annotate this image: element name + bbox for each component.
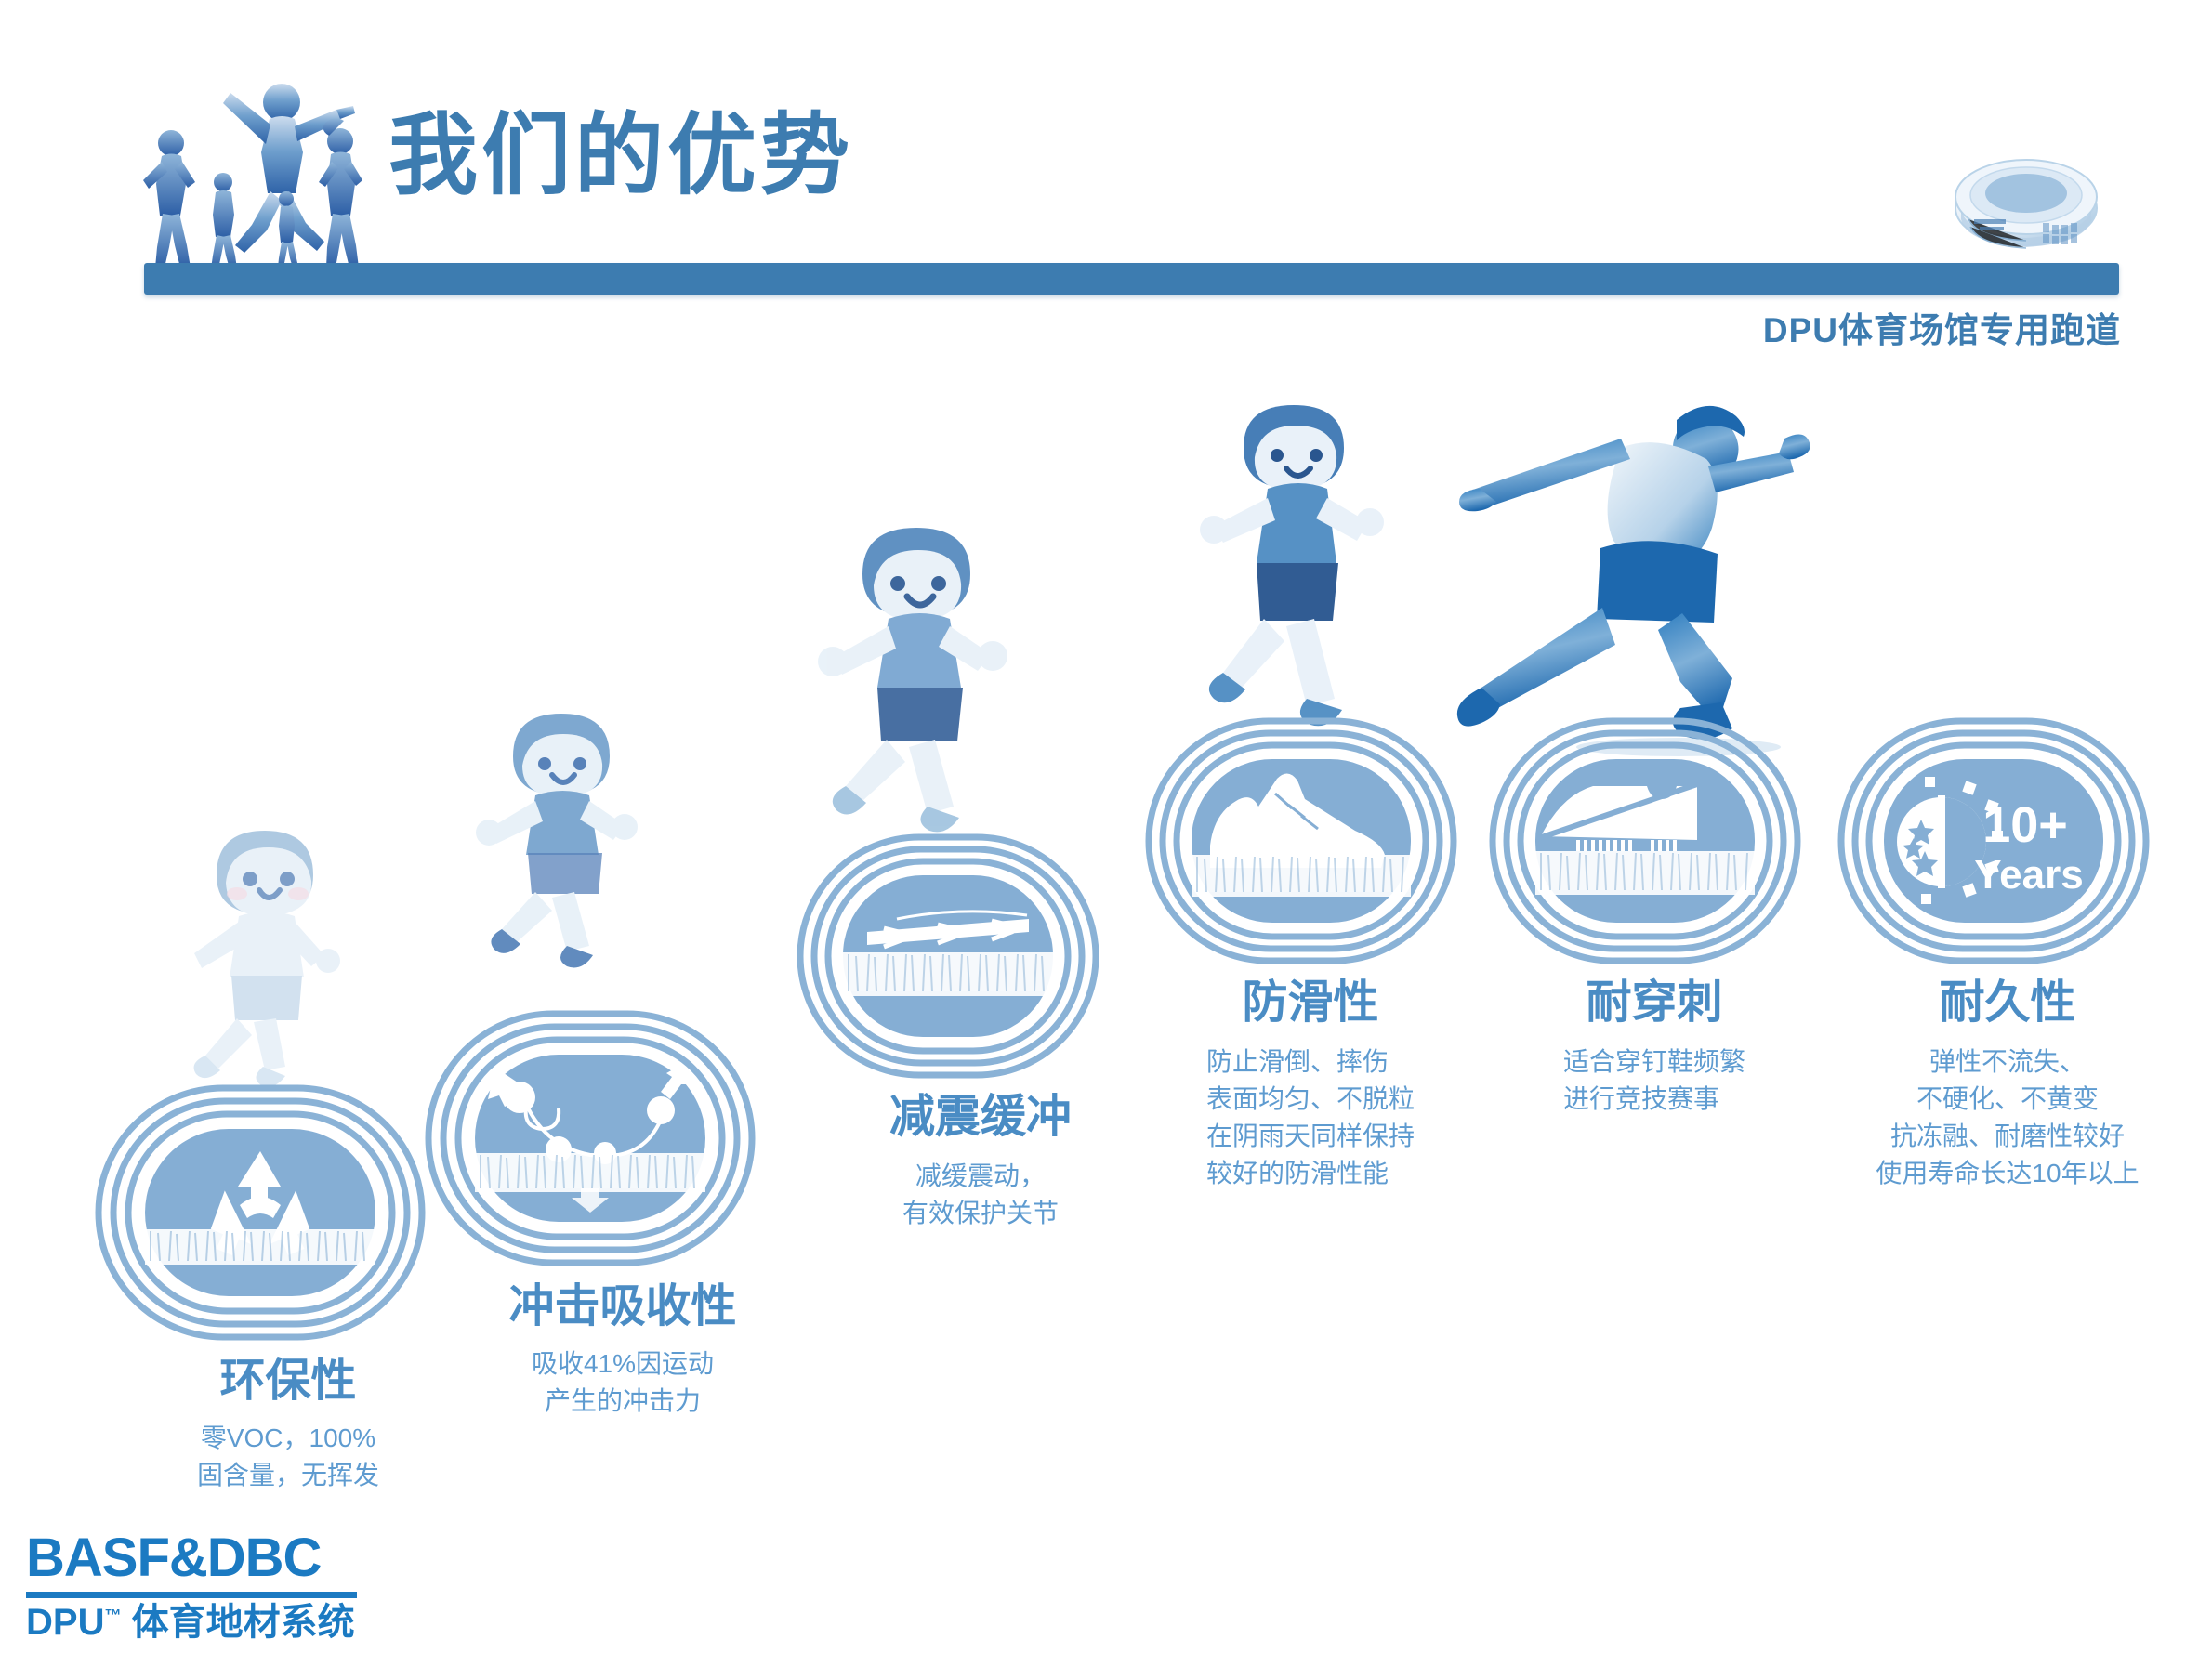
ten-plus-years-icon: 10+ Years (1836, 715, 2179, 966)
brand-name: BASF&DBC (26, 1531, 398, 1585)
logo-divider (26, 1592, 357, 1598)
kid-toddler-runner (172, 818, 395, 1124)
feature-shock-cushion[interactable]: 减震缓冲 减缓震动， 有效保护关节 (795, 832, 1166, 1232)
kid-small-runner (455, 706, 688, 1022)
feature-durability[interactable]: 10+ Years 耐久性 弹性不流失、 不硬化、不黄变 抗冻融、耐磨性较好 使… (1836, 715, 2179, 1191)
spring-plate-icon (795, 832, 1166, 1081)
feature-desc-line: 弹性不流失、 (1836, 1043, 2179, 1081)
feature-desc-line: 进行竞技赛事 (1563, 1081, 1745, 1118)
header-divider-bar (144, 263, 2119, 295)
product-suffix: 体育地材系统 (132, 1602, 355, 1643)
page-title: 我们的优势 (388, 112, 853, 201)
feature-anti-slip[interactable]: 防滑性 防止滑倒、摔伤 表面均匀、不脱粒 在阴雨天同样保持 较好的防滑性能 (1143, 715, 1478, 1191)
adult-sprinter (1439, 388, 1848, 760)
feature-desc-line: 抗冻融、耐磨性较好 (1836, 1118, 2179, 1155)
feature-desc-line: 表面均匀、不脱粒 (1206, 1081, 1415, 1118)
feature-title: 防滑性 (1143, 979, 1478, 1027)
feature-title: 减震缓冲 (795, 1094, 1166, 1141)
stadium-3d-icon (1942, 141, 2110, 253)
feature-title: 耐久性 (1836, 979, 2179, 1027)
feature-desc-line: 在阴雨天同样保持 (1206, 1118, 1415, 1155)
feature-desc-line: 较好的防滑性能 (1206, 1155, 1415, 1192)
trademark-symbol: ™ (104, 1607, 121, 1625)
feature-desc-line: 产生的冲击力 (423, 1383, 823, 1420)
feature-puncture-resistance[interactable]: 耐穿刺 适合穿钉鞋频繁 进行竞技赛事 (1487, 715, 1822, 1118)
feature-title: 冲击吸收性 (423, 1283, 823, 1331)
feature-desc-line: 零VOC，100% (93, 1420, 483, 1457)
feature-desc-line: 防止滑倒、摔伤 (1206, 1043, 1415, 1081)
feature-impact-absorption[interactable]: 冲击吸收性 吸收41%因运动 产生的冲击力 (423, 1008, 823, 1420)
spike-shoe-icon (1487, 715, 1822, 966)
badge-years-primary: 10+ (1982, 797, 2068, 853)
feature-desc-line: 适合穿钉鞋频繁 (1563, 1043, 1745, 1081)
product-name: DPU™ 体育地材系统 (26, 1604, 398, 1641)
feature-desc-line: 固含量，无挥发 (93, 1457, 483, 1494)
slide-root: 我们的优势 (0, 0, 2212, 1666)
header-subtitle: DPU体育场馆专用跑道 (1763, 302, 2121, 352)
product-code: DPU (26, 1602, 104, 1643)
header: 我们的优势 (0, 0, 2212, 353)
feature-desc-line: 减缓震动， (795, 1158, 1166, 1195)
feature-title: 耐穿刺 (1487, 979, 1822, 1027)
ball-bounce-icon (423, 1008, 823, 1268)
feature-desc-line: 不硬化、不黄变 (1836, 1081, 2179, 1118)
feature-desc-line: 有效保护关节 (795, 1195, 1166, 1232)
brand-logo[interactable]: BASF&DBC DPU™ 体育地材系统 (26, 1531, 398, 1641)
running-shoe-icon (1143, 715, 1478, 966)
feature-desc-line: 使用寿命长达10年以上 (1836, 1155, 2179, 1192)
badge-years-secondary: Years (1974, 852, 2083, 898)
feature-desc-line: 吸收41%因运动 (423, 1345, 823, 1383)
